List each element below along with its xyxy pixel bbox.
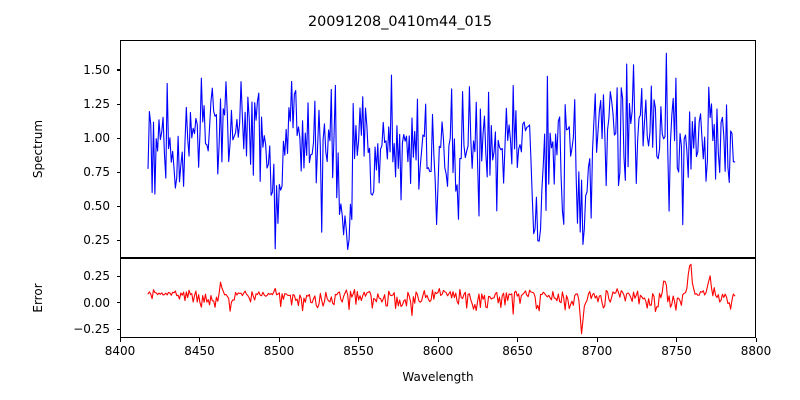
error-line-series [121,259,757,339]
error-y-tick-label: 0.00 [58,297,110,309]
x-tick-label: 8750 [647,345,707,357]
error-y-tick-label: −0.25 [58,323,110,335]
spectrum-data-line [148,53,735,249]
x-tick-label: 8800 [726,345,786,357]
x-tickmark [517,338,518,342]
x-tickmark [279,338,280,342]
error-y-tickmark [117,276,121,277]
x-tick-label: 8550 [329,345,389,357]
x-tickmark [676,338,677,342]
spectrum-y-tick-label: 1.50 [58,64,110,76]
spectrum-y-tickmark [117,69,121,70]
spectrum-y-tickmark [117,206,121,207]
x-tickmark [756,338,757,342]
error-y-tickmark [117,329,121,330]
x-tickmark [199,338,200,342]
error-y-axis-label: Error [31,258,45,338]
x-tick-label: 8450 [170,345,230,357]
spectrum-y-axis-label: Spectrum [31,104,45,194]
x-tick-label: 8500 [249,345,309,357]
x-tick-label: 8600 [408,345,468,357]
error-data-line [148,264,735,333]
figure-canvas: 20091208_0410m44_015 0.250.500.751.001.2… [0,0,800,400]
spectrum-y-tickmark [117,172,121,173]
x-tickmark [358,338,359,342]
spectrum-y-tick-label: 0.25 [58,234,110,246]
spectrum-y-tickmark [117,240,121,241]
x-tick-label: 8700 [567,345,627,357]
spectrum-y-tick-label: 1.25 [58,98,110,110]
spectrum-panel [120,40,756,258]
spectrum-line-series [121,41,757,259]
error-y-tickmark [117,302,121,303]
x-tick-label: 8400 [90,345,150,357]
error-y-tick-label: 0.25 [58,270,110,282]
spectrum-y-tickmark [117,138,121,139]
error-panel [120,258,756,338]
x-tick-label: 8650 [488,345,548,357]
x-tickmark [597,338,598,342]
spectrum-y-tick-label: 1.00 [58,132,110,144]
spectrum-y-tickmark [117,104,121,105]
spectrum-y-tick-label: 0.50 [58,200,110,212]
x-tickmark [120,338,121,342]
x-tickmark [438,338,439,342]
spectrum-y-tick-label: 0.75 [58,166,110,178]
page-title: 20091208_0410m44_015 [0,14,800,30]
x-axis-label: Wavelength [120,370,756,384]
